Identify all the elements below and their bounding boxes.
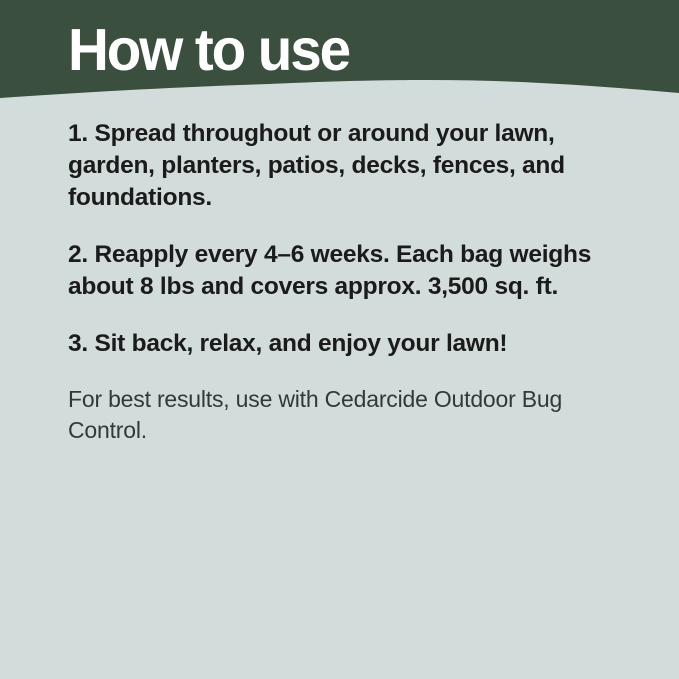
how-to-use-card: How to use 1. Spread throughout or aroun… <box>0 0 679 679</box>
header-banner: How to use <box>0 0 679 110</box>
instructions-content: 1. Spread throughout or around your lawn… <box>68 118 620 446</box>
instruction-step-1: 1. Spread throughout or around your lawn… <box>68 118 620 214</box>
instruction-step-3: 3. Sit back, relax, and enjoy your lawn! <box>68 328 620 360</box>
best-results-note: For best results, use with Cedarcide Out… <box>68 384 616 446</box>
instruction-step-2: 2. Reapply every 4–6 weeks. Each bag wei… <box>68 239 620 303</box>
page-title: How to use <box>68 18 349 82</box>
